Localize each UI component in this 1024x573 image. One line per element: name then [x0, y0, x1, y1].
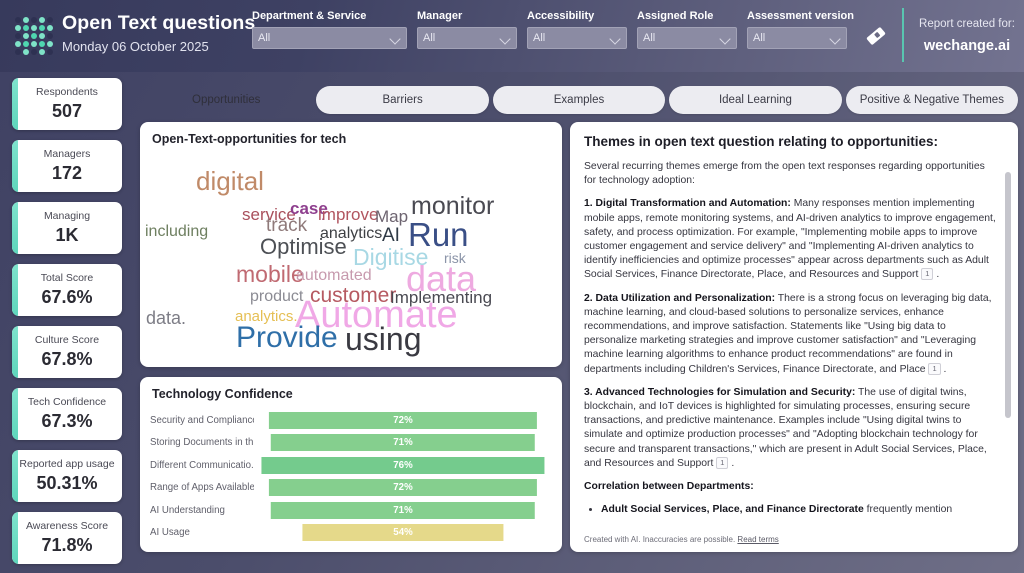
theme-item: 3. Advanced Technologies for Simulation … — [584, 386, 996, 471]
tab-bar: OpportunitiesBarriersExamplesIdeal Learn… — [140, 84, 1018, 116]
bar-fill[interactable]: 72% — [269, 479, 537, 496]
kpi-card[interactable]: Managing1K — [12, 202, 122, 254]
bar-category-label: AI Understanding — [150, 505, 254, 516]
report-created-for: Report created for: wechange.ai — [918, 18, 1016, 54]
bar-track: 71% — [254, 502, 552, 519]
themes-scrollbar[interactable] — [1005, 166, 1011, 524]
chart-title: Technology Confidence — [140, 377, 562, 401]
filter-dropdown[interactable]: All — [747, 27, 847, 49]
bar-fill[interactable]: 71% — [271, 434, 535, 451]
bar-category-label: AI Usage — [150, 527, 254, 538]
bar-track: 71% — [254, 434, 552, 451]
filter-dropdown[interactable]: All — [637, 27, 737, 49]
citation-badge[interactable]: 1 — [921, 268, 933, 280]
filter-department-service[interactable]: Department & Service All — [252, 10, 407, 49]
tab-positive-negative-themes[interactable]: Positive & Negative Themes — [846, 86, 1018, 114]
wordcloud-word[interactable]: improve — [318, 206, 378, 223]
filter-assessment-version[interactable]: Assessment version All — [747, 10, 847, 49]
filter-value: All — [753, 32, 765, 44]
filter-accessibility[interactable]: Accessibility All — [527, 10, 627, 49]
dashboard-header: Open Text questions Monday 06 October 20… — [0, 0, 1024, 72]
bar-track: 54% — [254, 524, 552, 541]
tab-opportunities[interactable]: Opportunities — [140, 86, 312, 114]
kpi-value: 67.8% — [41, 348, 92, 370]
bar-category-label: Different Communicatio... — [150, 460, 254, 471]
wordcloud-word[interactable]: track — [266, 216, 307, 235]
bar-fill[interactable]: 72% — [269, 412, 537, 429]
themes-heading: Themes in open text question relating to… — [570, 122, 1018, 154]
page-title: Open Text questions — [62, 10, 255, 36]
report-date: Monday 06 October 2025 — [62, 39, 255, 54]
bar-track: 72% — [254, 479, 552, 496]
bar-category-label: Range of Apps Available — [150, 482, 254, 493]
bar-fill[interactable]: 54% — [302, 524, 503, 541]
bar-row[interactable]: Different Communicatio...76% — [150, 454, 552, 477]
kpi-value: 67.3% — [41, 410, 92, 432]
ai-disclaimer-text: Created with AI. Inaccuracies are possib… — [584, 535, 737, 544]
filter-label: Manager — [417, 10, 517, 22]
filter-dropdown[interactable]: All — [417, 27, 517, 49]
wordcloud-word[interactable]: Map — [375, 208, 408, 225]
filter-value: All — [643, 32, 655, 44]
bar-fill[interactable]: 71% — [271, 502, 535, 519]
bar-row[interactable]: AI Usage54% — [150, 522, 552, 545]
filter-label: Accessibility — [527, 10, 627, 22]
bar-row[interactable]: Storing Documents in th...71% — [150, 432, 552, 455]
dot-matrix-logo-icon — [12, 14, 56, 58]
wordcloud-word[interactable]: automated — [296, 268, 372, 284]
filter-value: All — [258, 32, 270, 44]
filter-label: Assessment version — [747, 10, 847, 22]
bar-track: 72% — [254, 412, 552, 429]
kpi-label: Tech Confidence — [28, 396, 106, 409]
theme-item-title: 1. Digital Transformation and Automation… — [584, 198, 791, 209]
bar-category-label: Storing Documents in th... — [150, 437, 254, 448]
chevron-down-icon — [391, 34, 400, 43]
wordcloud-panel: Open-Text-opportunities for tech digital… — [140, 122, 562, 367]
clear-filters-eraser-icon[interactable] — [862, 22, 890, 50]
wordcloud-word[interactable]: Optimise — [260, 236, 347, 258]
theme-item-title: 3. Advanced Technologies for Simulation … — [584, 387, 855, 398]
wordcloud-word[interactable]: digital — [196, 168, 264, 194]
citation-badge[interactable]: 1 — [928, 363, 940, 375]
tab-ideal-learning[interactable]: Ideal Learning — [669, 86, 841, 114]
kpi-label: Respondents — [36, 86, 98, 99]
kpi-card[interactable]: Culture Score67.8% — [12, 326, 122, 378]
kpi-card[interactable]: Total Score67.6% — [12, 264, 122, 316]
wordcloud-title: Open-Text-opportunities for tech — [140, 122, 562, 146]
filter-dropdown[interactable]: All — [252, 27, 407, 49]
theme-item: 2. Data Utilization and Personalization:… — [584, 292, 996, 377]
created-for-label: Report created for: — [918, 18, 1016, 30]
ai-disclaimer: Created with AI. Inaccuracies are possib… — [584, 535, 779, 544]
kpi-value: 71.8% — [41, 534, 92, 556]
chevron-down-icon — [831, 34, 840, 43]
kpi-value: 172 — [52, 162, 82, 184]
kpi-value: 1K — [55, 224, 78, 246]
wordcloud-word[interactable]: AI — [382, 226, 400, 245]
bar-row[interactable]: AI Understanding71% — [150, 499, 552, 522]
scrollbar-thumb[interactable] — [1005, 172, 1011, 418]
wordcloud-word[interactable]: using — [345, 323, 422, 355]
wordcloud[interactable]: digitalservicecase.includingtrackimprove… — [140, 146, 562, 351]
kpi-card[interactable]: Managers172 — [12, 140, 122, 192]
wordcloud-word[interactable]: mobile — [236, 263, 304, 286]
dashboard-page: Open Text questions Monday 06 October 20… — [0, 0, 1024, 573]
wordcloud-word[interactable]: including — [145, 224, 208, 240]
bar-track: 76% — [254, 457, 552, 474]
tab-examples[interactable]: Examples — [493, 86, 665, 114]
kpi-card[interactable]: Respondents507 — [12, 78, 122, 130]
kpi-sidebar: Respondents507Managers172Managing1KTotal… — [0, 72, 134, 573]
correlation-list: Adult Social Services, Place, and Financ… — [584, 503, 996, 517]
kpi-label: Managers — [44, 148, 91, 161]
bar-chart: Security and Compliance72%Storing Docume… — [150, 409, 552, 544]
kpi-value: 50.31% — [36, 472, 97, 494]
header-divider — [902, 8, 904, 62]
kpi-card[interactable]: Reported app usage50.31% — [12, 450, 122, 502]
filter-dropdown[interactable]: All — [527, 27, 627, 49]
bar-row[interactable]: Security and Compliance72% — [150, 409, 552, 432]
read-terms-link[interactable]: Read terms — [737, 535, 778, 544]
filter-bar: Department & Service All Manager All Acc… — [252, 10, 847, 49]
theme-item: 1. Digital Transformation and Automation… — [584, 197, 996, 282]
themes-intro: Several recurring themes emerge from the… — [584, 160, 996, 188]
kpi-card[interactable]: Awareness Score71.8% — [12, 512, 122, 564]
themes-content: Several recurring themes emerge from the… — [570, 160, 1018, 528]
technology-confidence-panel: Technology Confidence Security and Compl… — [140, 377, 562, 552]
report-canvas: OpportunitiesBarriersExamplesIdeal Learn… — [134, 72, 1024, 573]
wordcloud-word[interactable]: monitor — [411, 194, 494, 219]
citation-badge[interactable]: 1 — [716, 457, 728, 469]
kpi-label: Culture Score — [35, 334, 99, 347]
kpi-label: Managing — [44, 210, 90, 223]
filter-assigned-role[interactable]: Assigned Role All — [637, 10, 737, 49]
kpi-value: 507 — [52, 100, 82, 122]
bar-row[interactable]: Range of Apps Available72% — [150, 477, 552, 500]
filter-value: All — [533, 32, 545, 44]
bar-category-label: Security and Compliance — [150, 415, 254, 426]
list-item: Adult Social Services, Place, and Financ… — [601, 503, 996, 517]
correlation-heading: Correlation between Departments: — [584, 480, 996, 494]
created-for-value: wechange.ai — [918, 38, 1016, 54]
chevron-down-icon — [501, 34, 510, 43]
filter-label: Assigned Role — [637, 10, 737, 22]
kpi-label: Reported app usage — [19, 458, 114, 471]
themes-panel: Themes in open text question relating to… — [570, 122, 1018, 552]
chevron-down-icon — [611, 34, 620, 43]
wordcloud-word[interactable]: data. — [146, 309, 186, 327]
wordcloud-word[interactable]: Provide — [236, 323, 338, 353]
filter-label: Department & Service — [252, 10, 407, 22]
bar-fill[interactable]: 76% — [261, 457, 544, 474]
chevron-down-icon — [721, 34, 730, 43]
title-block: Open Text questions Monday 06 October 20… — [62, 10, 255, 54]
tab-barriers[interactable]: Barriers — [316, 86, 488, 114]
kpi-label: Total Score — [41, 272, 94, 285]
kpi-card[interactable]: Tech Confidence67.3% — [12, 388, 122, 440]
kpi-label: Awareness Score — [26, 520, 108, 533]
kpi-value: 67.6% — [41, 286, 92, 308]
filter-manager[interactable]: Manager All — [417, 10, 517, 49]
theme-item-title: 2. Data Utilization and Personalization: — [584, 293, 775, 304]
filter-value: All — [423, 32, 435, 44]
